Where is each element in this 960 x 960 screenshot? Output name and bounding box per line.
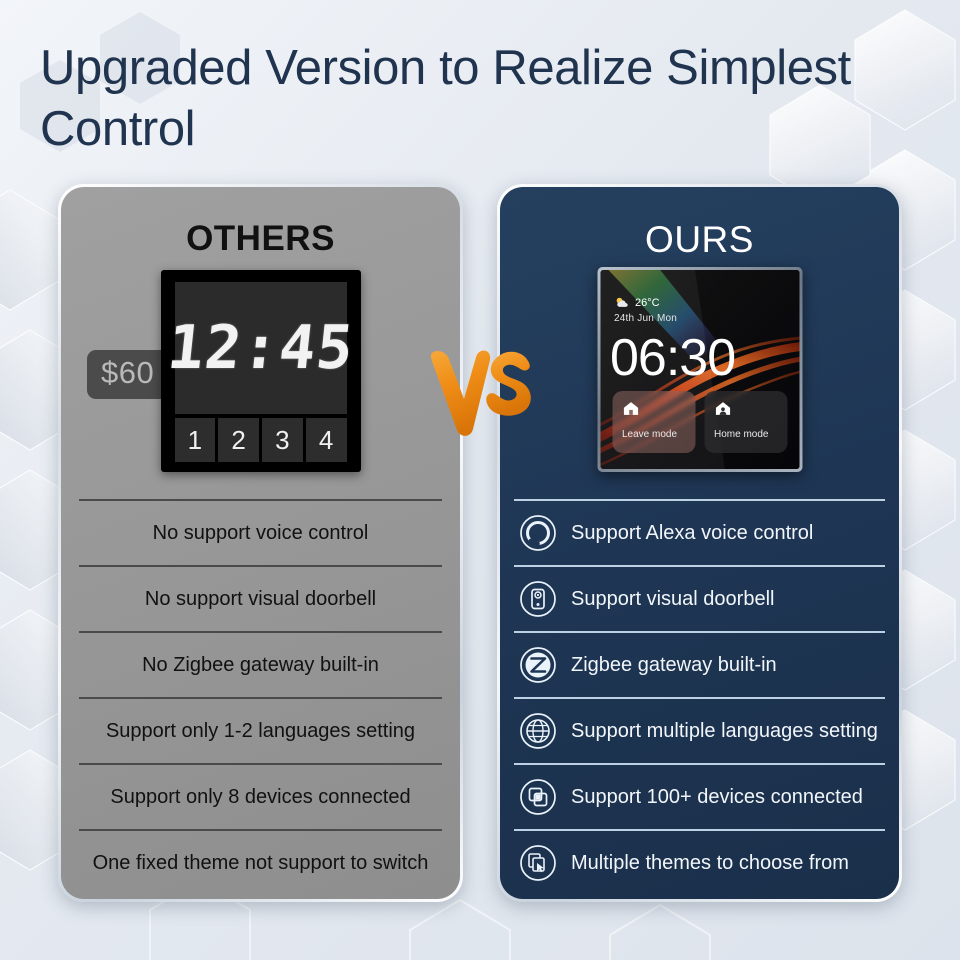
list-item: Support visual doorbell: [514, 565, 885, 631]
weather-temperature: 26°C: [635, 297, 660, 309]
ours-panel-heading: OURS: [500, 219, 899, 261]
feature-text: Support Alexa voice control: [571, 521, 813, 546]
alexa-ring-icon: [518, 513, 558, 553]
list-item: Support only 1-2 languages setting: [79, 697, 442, 763]
feature-text: No Zigbee gateway built-in: [142, 653, 379, 678]
device-key[interactable]: 1: [175, 418, 216, 462]
zigbee-z-icon: [518, 645, 558, 685]
list-item: Support Alexa voice control: [514, 499, 885, 565]
feature-text: Support only 8 devices connected: [110, 785, 410, 810]
page-title: Upgraded Version to Realize Simplest Con…: [40, 38, 930, 160]
devices-stack-icon: [518, 777, 558, 817]
home-mode-label: Home mode: [714, 429, 787, 440]
ours-feature-list: Support Alexa voice control Support visu…: [500, 499, 899, 899]
list-item: Support only 8 devices connected: [79, 763, 442, 829]
sun-behind-cloud-icon: [614, 296, 629, 309]
globe-icon: [518, 711, 558, 751]
ours-comparison-panel: OURS: [497, 184, 902, 902]
others-device-lcd: 12:45: [175, 282, 347, 414]
list-item: Support multiple languages setting: [514, 697, 885, 763]
leave-mode-button[interactable]: Leave mode: [612, 391, 695, 453]
feature-text: Zigbee gateway built-in: [571, 653, 777, 678]
themes-cursor-icon: [518, 843, 558, 883]
others-comparison-panel: OTHERS $60 12:45 1 2 3 4 No support voic…: [58, 184, 463, 902]
device-key[interactable]: 2: [218, 418, 259, 462]
feature-text: Support only 1-2 languages setting: [106, 719, 415, 744]
screen-clock: 06:30: [610, 328, 735, 388]
list-item: No support voice control: [79, 499, 442, 565]
list-item: Multiple themes to choose from: [514, 829, 885, 895]
vs-badge: [424, 337, 544, 447]
feature-text: No support visual doorbell: [145, 587, 376, 612]
list-item: Zigbee gateway built-in: [514, 631, 885, 697]
feature-text: Support 100+ devices connected: [571, 785, 863, 810]
list-item: No support visual doorbell: [79, 565, 442, 631]
list-item: One fixed theme not support to switch: [79, 829, 442, 895]
doorbell-panel-icon: [518, 579, 558, 619]
list-item: No Zigbee gateway built-in: [79, 631, 442, 697]
device-key[interactable]: 3: [262, 418, 303, 462]
others-feature-list: No support voice control No support visu…: [61, 499, 460, 899]
others-device-keypad: 1 2 3 4: [175, 418, 347, 462]
house-icon: [622, 400, 639, 417]
feature-text: One fixed theme not support to switch: [93, 851, 429, 876]
ours-device-screen: 26°C 24th Jun Mon 06:30 Leave mode: [600, 270, 799, 469]
screen-weather: 26°C: [614, 296, 660, 309]
screen-date: 24th Jun Mon: [614, 313, 677, 324]
others-panel-heading: OTHERS: [61, 219, 460, 259]
feature-text: Support visual doorbell: [571, 587, 774, 612]
others-device: 12:45 1 2 3 4: [161, 270, 361, 472]
device-key[interactable]: 4: [306, 418, 347, 462]
home-mode-button[interactable]: Home mode: [704, 391, 787, 453]
leave-mode-label: Leave mode: [622, 429, 695, 440]
others-device-time: 12:45: [164, 313, 357, 383]
screen-mode-buttons: Leave mode Home mode: [612, 391, 787, 453]
ours-device: 26°C 24th Jun Mon 06:30 Leave mode: [597, 267, 802, 472]
person-in-house-icon: [714, 400, 731, 417]
feature-text: Support multiple languages setting: [571, 719, 878, 744]
list-item: Support 100+ devices connected: [514, 763, 885, 829]
feature-text: Multiple themes to choose from: [571, 851, 849, 876]
feature-text: No support voice control: [153, 521, 369, 546]
